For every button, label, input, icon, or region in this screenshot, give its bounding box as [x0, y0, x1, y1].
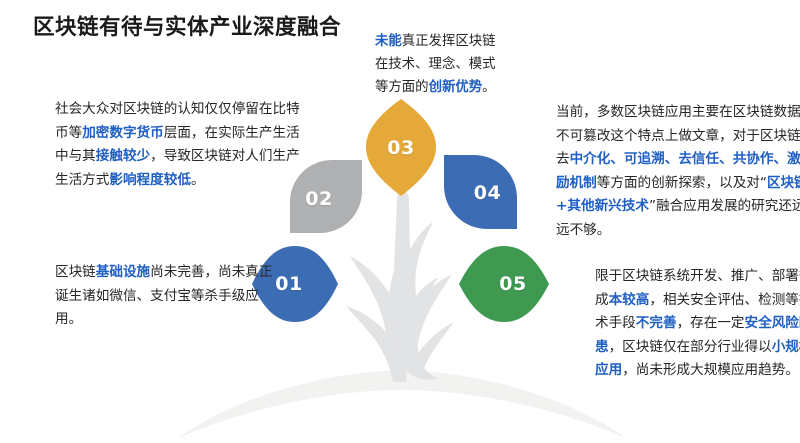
callout-top-middle: 未能真正发挥区块链在技术、理念、模式等方面的创新优势。 — [348, 30, 503, 99]
callout-top-left: 社会大众对区块链的认知仅仅停留在比特币等加密数字货币层面，在实际生产生活中与其接… — [28, 98, 307, 192]
branch-right-shape — [411, 274, 455, 372]
leaf-badge-05[interactable]: 05 — [459, 246, 549, 322]
branch-left-shape — [346, 256, 396, 370]
callout-top-right: 当前，多数区块链应用主要在区块链数据不可篡改这个特点上做文章，对于区块链去中介化… — [529, 101, 800, 242]
leaf-number-01: 01 — [275, 273, 302, 295]
leaf-number-05: 05 — [499, 273, 526, 295]
leaf-badge-04[interactable]: 04 — [444, 155, 517, 229]
callout-bottom-left: 区块链基础设施尚未完善，尚未真正诞生诸如微信、支付宝等杀手级应用。 — [28, 261, 277, 332]
leaf-number-04: 04 — [474, 182, 501, 204]
page-title: 区块链有待与实体产业深度融合 — [33, 10, 341, 41]
callout-bottom-right: 限于区块链系统开发、推广、部署等成本较高，相关安全评估、检测等技术手段不完善，存… — [568, 265, 800, 383]
leaf-badge-03[interactable]: 03 — [366, 99, 436, 196]
slide-canvas: 区块链有待与实体产业深度融合 01 02 03 04 — [0, 0, 800, 439]
leaf-number-02: 02 — [305, 188, 332, 210]
leaf-number-03: 03 — [387, 137, 414, 159]
